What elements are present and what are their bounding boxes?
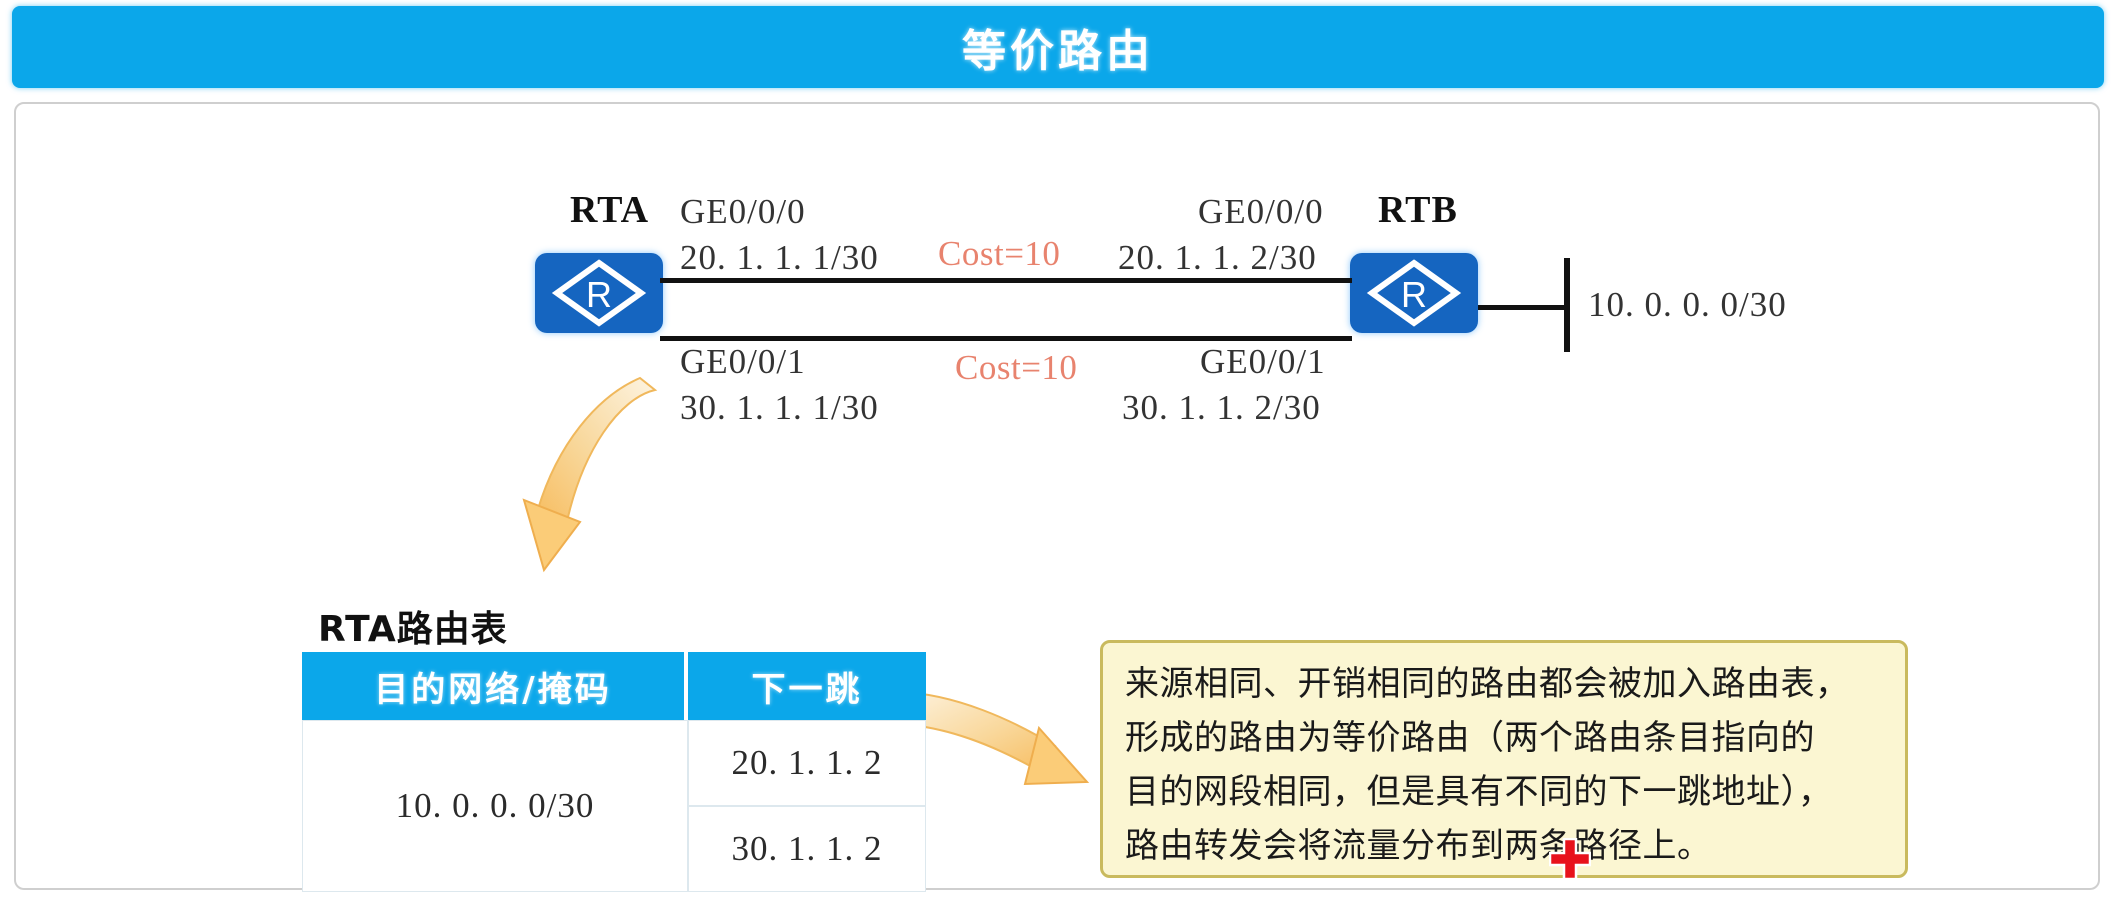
link-line-top: [660, 278, 1352, 283]
callout-line: 目的网段相同，但是具有不同的下一跳地址），: [1125, 765, 1883, 819]
router-icon: R: [535, 253, 663, 333]
iface-label-rtb-top: GE0/0/0: [1198, 192, 1324, 232]
iface-addr-rtb-top: 20. 1. 1. 2/30: [1118, 238, 1317, 278]
svg-text:R: R: [586, 274, 612, 315]
link-line-bottom: [660, 336, 1352, 341]
router-icon: R: [1350, 253, 1478, 333]
table-row: 10. 0. 0. 0/30 20. 1. 1. 2: [302, 720, 926, 806]
cell-next-hop-1: 20. 1. 1. 2: [688, 720, 926, 806]
table-header-destination: 目的网络/掩码: [302, 652, 688, 720]
iface-label-rtb-bottom: GE0/0/1: [1200, 342, 1326, 382]
iface-label-rta-top: GE0/0/0: [680, 192, 806, 232]
table-header-row: 目的网络/掩码 下一跳: [302, 652, 926, 720]
router-icon-rta[interactable]: R: [535, 253, 663, 333]
cell-destination: 10. 0. 0. 0/30: [302, 720, 688, 892]
route-table: 目的网络/掩码 下一跳 10. 0. 0. 0/30 20. 1. 1. 2 3…: [302, 652, 926, 892]
callout-line: 路由转发会将流量分布到两条路径上。: [1125, 819, 1883, 873]
red-cross-cursor-icon: [1549, 838, 1591, 880]
router-icon-rtb[interactable]: R: [1350, 253, 1478, 333]
route-table-title: RTA路由表: [318, 600, 508, 652]
arrow-router-to-table: [470, 340, 730, 600]
cost-label-top: Cost=10: [938, 234, 1060, 274]
cell-next-hop-2: 30. 1. 1. 2: [688, 806, 926, 892]
iface-addr-rtb-bottom: 30. 1. 1. 2/30: [1122, 388, 1321, 428]
app-header: 等价路由: [12, 6, 2104, 88]
svg-text:R: R: [1401, 274, 1427, 315]
callout-line: 来源相同、开销相同的路由都会被加入路由表，: [1125, 657, 1883, 711]
link-line-lan: [1478, 305, 1570, 310]
router-label-rtb: RTB: [1378, 188, 1458, 232]
router-label-rta: RTA: [570, 188, 649, 232]
callout-line: 形成的路由为等价路由（两个路由条目指向的: [1125, 711, 1883, 765]
arrow-table-to-callout: [895, 672, 1135, 822]
lan-segment-label: 10. 0. 0. 0/30: [1588, 285, 1787, 325]
cost-label-bottom: Cost=10: [955, 348, 1077, 388]
callout-box: 来源相同、开销相同的路由都会被加入路由表， 形成的路由为等价路由（两个路由条目指…: [1100, 640, 1908, 878]
iface-addr-rta-top: 20. 1. 1. 1/30: [680, 238, 879, 278]
page-title: 等价路由: [962, 15, 1154, 79]
table-header-next-hop: 下一跳: [688, 652, 926, 720]
lan-segment-bar: [1564, 258, 1570, 352]
